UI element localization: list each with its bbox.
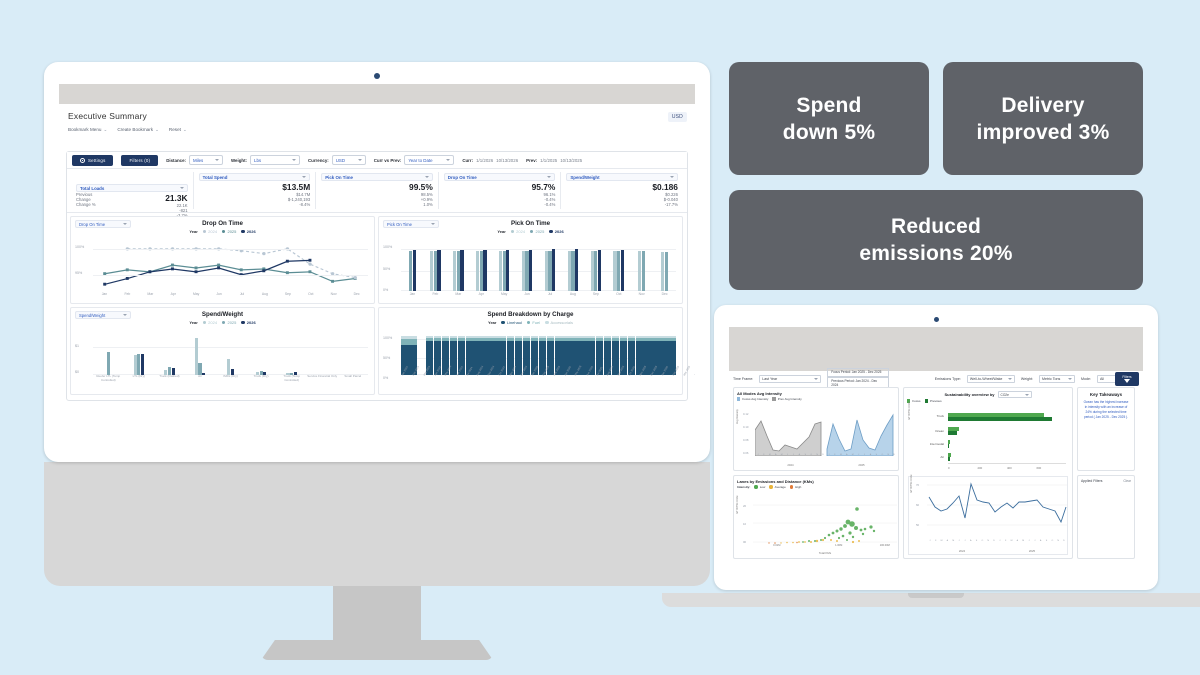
browser-chrome-strip <box>59 84 695 104</box>
chevron-down-icon <box>292 159 296 161</box>
bar-group <box>124 336 155 375</box>
key-takeaways-title: Key Takeaways <box>1082 392 1130 397</box>
x-tick: Jul <box>539 292 562 300</box>
x-axis: Jan Feb Mar Apr May Jun Jul Aug Sep <box>401 292 676 300</box>
legend-swatch <box>530 230 533 233</box>
chart-pick-on-time-selector[interactable]: Pick On Time <box>383 220 439 228</box>
kpi-drop-on-time-change-pct: -0.4% <box>444 202 556 207</box>
legend-swatch <box>790 485 793 488</box>
kpi-drop-on-time-current: 95.7% <box>444 183 556 192</box>
middle-column: Sustainability overview by CO2e Focus Pr… <box>903 387 1073 559</box>
kpi-drop-on-time-title[interactable]: Drop On Time <box>444 173 556 181</box>
x-group-label: 2024 <box>755 463 826 467</box>
time-frame-label: Time Frame: <box>733 377 753 381</box>
filter-bar: Settings Filters (0) Distance: Miles <box>67 152 687 169</box>
legend-item-2025[interactable]: 2025 <box>530 229 544 234</box>
callout-delivery-line1: Delivery <box>977 92 1110 119</box>
kpi-total-loads-overlay: Total Loads 21.3K 22.1K -821 -3.7% <box>76 183 188 219</box>
bar-group <box>276 336 307 375</box>
kpi-pick-on-time-change-pct: 1.0% <box>321 202 433 207</box>
time-frame-value: Last Year <box>762 377 777 381</box>
y-tick: 0.10 <box>743 425 748 429</box>
x-tick: 1.00M <box>835 544 842 547</box>
chevron-down-icon <box>1068 378 1072 380</box>
bar-group <box>516 245 539 291</box>
kpi-total-loads-values: 21.3K 22.1K -821 -3.7% <box>76 194 188 219</box>
laptop-screen: Time Frame: Last Year Focus Period: Jan … <box>729 327 1143 577</box>
chart-spend-weight-legend: Year 2024 2025 2026 <box>74 320 371 325</box>
chart-drop-on-time-selector[interactable]: Drop On Time <box>75 220 131 228</box>
chart-sustainability-overview: Sustainability overview by CO2e Focus Pr… <box>903 387 1073 559</box>
x-group-label: 2025 <box>997 549 1067 553</box>
scatter-points <box>753 500 897 546</box>
trend-line <box>927 481 1067 529</box>
create-bookmark-button[interactable]: Create Bookmark⌄ <box>117 127 159 133</box>
legend-item-low[interactable]: Low <box>754 485 765 489</box>
bar-group <box>630 245 653 291</box>
legend-swatch <box>222 321 225 324</box>
settings-label: Settings <box>88 158 105 163</box>
x-tick: Dec <box>345 292 368 300</box>
chevron-down-icon: ⌄ <box>155 127 159 132</box>
bar-group <box>401 245 424 291</box>
y-axis-label: mT WTW CO2e <box>908 402 911 420</box>
x-tick: IMDL (Dry) <box>215 375 246 391</box>
x-tick: 100.00M <box>880 544 890 547</box>
filter-currency-select[interactable]: USD <box>332 155 366 165</box>
kpi-pick-on-time-title-text: Pick On Time <box>325 175 353 180</box>
x-tick: Nov <box>322 292 345 300</box>
y-tick: 0.12 <box>743 412 748 416</box>
legend-item-2024[interactable]: 2024 <box>511 229 525 234</box>
x-tick: Air <box>185 375 216 391</box>
previous-range-start[interactable]: 1/1/2025 <box>540 158 557 163</box>
x-axis: JFMAMJJASOND JFMAMJJASOND <box>927 540 1067 547</box>
cat-label: Truck <box>916 414 944 418</box>
bar-group <box>246 336 277 375</box>
filter-weight-select[interactable]: Lbs <box>250 155 300 165</box>
kpi-spend-weight-title-text: Spend/Weight <box>570 175 599 180</box>
applied-filters-card: Applied Filters Clear <box>1077 475 1135 559</box>
legend-label: 2024 <box>516 229 525 234</box>
y-tick: 50 <box>916 523 919 527</box>
x-tick: Oct <box>607 292 630 300</box>
chevron-down-icon <box>1008 378 1012 380</box>
callout-emissions-line1: Reduced <box>859 213 1012 240</box>
filters-button[interactable]: Filters (0) <box>121 155 158 166</box>
x-tick: Apr <box>470 292 493 300</box>
chevron-down-icon <box>425 176 429 178</box>
applied-filters-title: Applied Filters <box>1081 479 1102 555</box>
y-axis-label: mT WTW CO2e <box>910 475 913 493</box>
chevron-down-icon: ⌄ <box>103 127 107 132</box>
key-takeaways-card: Key Takeaways Ocean has the highest incr… <box>1077 387 1135 471</box>
sustainability-dashboard: Time Frame: Last Year Focus Period: Jan … <box>729 371 1143 577</box>
bar-group <box>215 336 246 375</box>
x-tick: 200 <box>978 466 1008 474</box>
chevron-down-icon <box>670 176 674 178</box>
plot-area: Avg Intensity 0.12 0.10 0.08 0.06 <box>737 412 895 467</box>
focus-period: Focus Period: Jan 2025 - Dec 2025 <box>827 368 889 376</box>
drop-on-time-lines <box>93 245 368 291</box>
legend-label: 2024 <box>208 320 217 325</box>
legend-item-high[interactable]: High <box>790 485 802 489</box>
bar-group <box>493 245 516 291</box>
plot-area-horizontal: mT WTW CO2e Truck Ocean Intermodal Air <box>908 412 1068 474</box>
y-tick: 20 <box>743 504 746 508</box>
chart-spend-weight-plot: $1 $0 <box>75 334 370 391</box>
x-tick: Oct <box>299 292 322 300</box>
cat-label: Air <box>916 455 944 459</box>
filter-curr-vs-prev: Curr vs Prev: Year to Date <box>374 155 455 165</box>
hbars <box>948 412 1066 464</box>
legend-item-2026[interactable]: 2026 <box>549 229 563 234</box>
legend-label: High <box>795 485 801 489</box>
x-tick: Truck (Temp Controlled) <box>276 375 307 391</box>
bar-group <box>185 336 216 375</box>
y-axis-label: Avg Intensity <box>736 409 739 424</box>
legend-title: Year <box>189 229 197 234</box>
laptop-bezel: Time Frame: Last Year Focus Period: Jan … <box>714 305 1158 590</box>
x-axis: JFMAMJJASOND JFMAMJJASOND <box>755 454 897 461</box>
kpi-drop-on-time-values: 95.7% 96.1% -0.4% -0.4% <box>444 183 556 208</box>
chart-grid: Drop On Time Drop On Time Year 2024 2025… <box>67 213 687 398</box>
applied-filters-clear-button[interactable]: Clear <box>1123 479 1131 555</box>
legend-label: 2026 <box>247 229 256 234</box>
legend-item-previous[interactable]: Previous <box>925 399 942 403</box>
current-range-end[interactable]: 10/13/2026 <box>496 158 518 163</box>
executive-summary-dashboard: Executive Summary USD Bookmark Menu⌄ Cre… <box>59 104 695 448</box>
weight-select[interactable]: Metric Tons <box>1039 375 1075 383</box>
filter-currency: Currency: USD <box>308 155 366 165</box>
y-tick: 70 <box>916 483 919 487</box>
x-axis-groups: 2024 2025 <box>755 463 897 467</box>
chart-all-modes-legend: Focus Avg Intensity Prev Avg Intensity <box>737 397 895 401</box>
weight-label: Weight: <box>1021 377 1033 381</box>
legend-label: Prev Avg Intensity <box>778 397 802 401</box>
chart-drop-on-time-legend: Year 2024 2025 2026 <box>74 229 371 234</box>
legend-item-2025[interactable]: 2025 <box>222 320 236 325</box>
x-tick: May <box>185 292 208 300</box>
chart-emissions-trend: mT WTW CO2e 70 60 50 <box>908 476 1068 555</box>
legend-swatch <box>754 485 757 488</box>
filter-distance-select[interactable]: Miles <box>189 155 223 165</box>
webcam-icon <box>374 73 380 79</box>
bookmark-menu-button[interactable]: Bookmark Menu⌄ <box>68 127 107 133</box>
kpi-pick-on-time-values: 99.5% 98.5% +0.9% 1.0% <box>321 183 433 208</box>
legend-swatch <box>241 230 244 233</box>
filter-weight: Weight: Lbs <box>231 155 300 165</box>
y-tick: 95% <box>75 271 82 275</box>
x-tick: 400 <box>1007 466 1037 474</box>
previous-range-end[interactable]: 10/13/2025 <box>560 158 582 163</box>
filter-curr-vs-prev-select[interactable]: Year to Date <box>404 155 454 165</box>
x-tick: Jan <box>401 292 424 300</box>
chart-pick-on-time: Pick On Time Pick On Time Year 2024 2025… <box>378 216 683 304</box>
legend-label: 2024 <box>208 229 217 234</box>
x-tick: Dec <box>653 292 676 300</box>
kpi-pick-on-time-title[interactable]: Pick On Time <box>321 173 433 181</box>
y-tick: 50% <box>383 356 390 360</box>
chevron-down-icon <box>358 159 362 161</box>
legend-title: Year <box>497 229 505 234</box>
legend-label: 2025 <box>535 229 544 234</box>
x-tick: Sep <box>584 292 607 300</box>
chevron-down-icon <box>123 314 127 316</box>
legend-swatch <box>203 230 206 233</box>
kpi-card-pick-on-time: Pick On Time 99.5% 98.5% +0.9% 1.0% <box>315 172 438 209</box>
kpi-strip: Current Previous Change Change % Total L… <box>67 169 687 213</box>
y-tick: $1 <box>75 344 79 348</box>
create-bookmark-label: Create Bookmark <box>117 127 153 132</box>
chevron-down-icon <box>215 159 219 161</box>
bookmark-toolbar: Bookmark Menu⌄ Create Bookmark⌄ Reset⌄ <box>61 121 693 133</box>
sustainability-card-row: All Modes Avg Intensity Focus Avg Intens… <box>729 387 1143 559</box>
kpi-drop-on-time-title-text: Drop On Time <box>448 175 477 180</box>
legend-item-focus[interactable]: Focus Avg Intensity <box>737 397 768 401</box>
callout-spend: Spend down 5% <box>729 62 929 175</box>
legend-item-2024[interactable]: 2024 <box>203 320 217 325</box>
chart-sustainability-legend: Focus Previous <box>907 399 1069 403</box>
legend-item-2026[interactable]: 2026 <box>241 229 255 234</box>
legend-item-prev[interactable]: Prev Avg Intensity <box>772 397 801 401</box>
chart-pick-on-time-selector-value: Pick On Time <box>387 222 412 227</box>
chart-drop-on-time: Drop On Time Drop On Time Year 2024 2025… <box>70 216 375 304</box>
legend-label: 2026 <box>247 320 256 325</box>
y-tick: $0 <box>75 370 79 374</box>
x-tick: 600 <box>1037 466 1067 474</box>
chevron-down-icon <box>302 176 306 178</box>
legend-swatch <box>511 230 514 233</box>
x-tick: Jun <box>516 292 539 300</box>
mode-label: Mode: <box>1081 377 1091 381</box>
x-tick: Aug <box>253 292 276 300</box>
x-tick: LTL (Dry) <box>124 375 155 391</box>
kpi-card-drop-on-time: Drop On Time 95.7% 96.1% -0.4% -0.4% <box>438 172 561 209</box>
chevron-down-icon <box>814 378 818 380</box>
legend-label: Linehaul <box>507 320 522 325</box>
x-tick: 0.01M <box>773 544 780 547</box>
webcam-icon <box>934 317 939 322</box>
emissions-type-label: Emissions Type: <box>935 377 961 381</box>
x-group-label: 2024 <box>927 549 997 553</box>
bar-group <box>561 245 584 291</box>
current-range-label: Curr: <box>462 158 473 163</box>
x-tick: May <box>493 292 516 300</box>
bar-group <box>424 245 447 291</box>
chart-spend-weight-selector[interactable]: Spend/Weight <box>75 311 131 319</box>
legend-swatch <box>222 230 225 233</box>
x-tick: Apr <box>162 292 185 300</box>
y-tick: 100% <box>383 245 392 249</box>
legend-label: Accessorials <box>551 320 573 325</box>
legend-item-2024[interactable]: 2024 <box>203 229 217 234</box>
legend-label: Focus <box>912 399 920 403</box>
x-axis: Reefer LTL (Temp Controlled) LTL (Dry) T… <box>93 375 368 391</box>
laptop-trackpad-notch <box>908 593 964 598</box>
legend-label: Focus Avg Intensity <box>742 397 768 401</box>
kpi-card-spend-weight: Spend/Weight $0.186 $0.226 $-0.040 -17.7… <box>560 172 683 209</box>
x-tick: Jun <box>208 292 231 300</box>
right-column: Key Takeaways Ocean has the highest incr… <box>1077 387 1135 559</box>
legend-label: Fuel <box>532 320 540 325</box>
filter-currency-label: Currency: <box>308 158 329 163</box>
y-tick: 10 <box>743 522 746 526</box>
co2e-metric-select[interactable]: CO2e <box>998 391 1032 398</box>
x-tick: Feb <box>424 292 447 300</box>
kpi-spend-weight-values: $0.186 $0.226 $-0.040 -17.7% <box>566 183 678 208</box>
x-tick: 0 <box>948 466 978 474</box>
bar-groups <box>93 336 368 375</box>
bookmark-menu-label: Bookmark Menu <box>68 127 101 132</box>
chart-lanes-title: Lanes by Emissions and Distance (KMs) <box>737 479 895 484</box>
emissions-type-value: Well-to-Wheel/Wake <box>970 377 1003 381</box>
x-tick: Aug <box>561 292 584 300</box>
filter-curr-vs-prev-value: Year to Date <box>408 158 432 163</box>
monitor-bezel: Executive Summary USD Bookmark Menu⌄ Cre… <box>44 62 710 462</box>
kpi-total-loads-current: 21.3K <box>76 194 188 203</box>
kpi-total-spend-title[interactable]: Total Spend <box>199 173 311 181</box>
emissions-type-select[interactable]: Well-to-Wheel/Wake <box>967 375 1015 383</box>
chart-spend-weight-selector-value: Spend/Weight <box>79 313 105 318</box>
bar-group <box>470 245 493 291</box>
left-column: All Modes Avg Intensity Focus Avg Intens… <box>733 387 899 559</box>
desktop-monitor: Executive Summary USD Bookmark Menu⌄ Cre… <box>44 62 710 522</box>
chart-spend-weight: Spend/Weight Spend/Weight Year 2024 2025… <box>70 307 375 395</box>
weight-value: Metric Tons <box>1042 377 1060 381</box>
kpi-total-spend-current: $13.5M <box>199 183 311 192</box>
kpi-total-spend-change-pct: -8.4% <box>199 202 311 207</box>
filter-distance: Distance: Miles <box>166 155 223 165</box>
monitor-stand-base <box>261 640 493 660</box>
x-axis-label: Total KMs <box>753 551 897 555</box>
legend-swatch <box>737 397 740 400</box>
mode-value: All <box>1100 377 1104 381</box>
legend-item-linehaul[interactable]: Linehaul <box>501 320 522 325</box>
chevron-down-icon <box>446 159 450 161</box>
callout-delivery-line2: improved 3% <box>977 119 1110 146</box>
dashboard-panel: Settings Filters (0) Distance: Miles <box>66 151 688 401</box>
legend-label: 2025 <box>227 229 236 234</box>
callout-emissions-text: Reduced emissions 20% <box>859 213 1012 267</box>
chart-lanes-by-emissions: Lanes by Emissions and Distance (KMs) In… <box>733 475 899 559</box>
filter-currency-value: USD <box>336 158 345 163</box>
x-group-label: 2025 <box>826 463 897 467</box>
kpi-total-spend-title-text: Total Spend <box>203 175 228 180</box>
legend-label: Average <box>775 485 786 489</box>
bar-group <box>154 336 185 375</box>
legend-item-fuel[interactable]: Fuel <box>527 320 540 325</box>
settings-button[interactable]: Settings <box>72 155 113 166</box>
cat-label: Intermodal <box>916 442 944 446</box>
callout-delivery-text: Delivery improved 3% <box>977 92 1110 146</box>
x-tick: Truck (Flatbed) <box>154 375 185 391</box>
chevron-down-icon: ⌄ <box>183 127 187 132</box>
date-range-current: Curr: 1/1/2026 10/13/2026 <box>462 158 518 163</box>
kpi-total-loads-title[interactable]: Total Loads <box>76 184 188 192</box>
filter-weight-label: Weight: <box>231 158 247 163</box>
kpi-spend-weight-title[interactable]: Spend/Weight <box>566 173 678 181</box>
plot-area <box>93 245 368 291</box>
x-tick: Mar <box>139 292 162 300</box>
chevron-down-icon <box>1025 394 1029 396</box>
callout-emissions: Reduced emissions 20% <box>729 190 1143 290</box>
legend-label: Low <box>760 485 766 489</box>
monitor-stand-neck <box>333 586 421 648</box>
x-axis: 0.01M 1.00M 100.00M <box>753 544 897 550</box>
chart-lanes-legend: Intensity: Low Average High <box>737 485 895 489</box>
legend-title: Intensity: <box>737 485 750 489</box>
chart-sustainability-header: Sustainability overview by CO2e <box>907 391 1069 398</box>
x-axis: 0 200 400 600 <box>948 466 1066 474</box>
legend-swatch <box>501 321 504 324</box>
sustainability-filter-bar: Time Frame: Last Year Focus Period: Jan … <box>729 371 1143 387</box>
monitor-chin <box>44 462 710 586</box>
x-tick: Jul <box>231 292 254 300</box>
filters-button[interactable]: Filters <box>1115 372 1139 386</box>
chart-spend-breakdown-legend: Year Linehaul Fuel Accessorials <box>382 320 679 325</box>
bar-group <box>93 336 124 375</box>
reset-button[interactable]: Reset⌄ <box>169 127 187 133</box>
plot-area <box>401 245 676 291</box>
previous-range-label: Prev: <box>526 158 537 163</box>
page-title: Executive Summary <box>61 104 693 121</box>
kpi-spend-weight-change-pct: -17.7% <box>566 202 678 207</box>
legend-item-2026[interactable]: 2026 <box>241 320 255 325</box>
bar-group <box>307 336 338 375</box>
currency-badge[interactable]: USD <box>668 112 687 122</box>
legend-item-accessorials[interactable]: Accessorials <box>545 320 573 325</box>
key-takeaways-body: Ocean has the highest increase in intens… <box>1082 400 1130 420</box>
legend-swatch <box>545 321 548 324</box>
chart-spend-breakdown-plot: 100% 50% 0% Jan 2024Feb <box>383 334 678 391</box>
chart-all-modes-title: All Modes Avg Intensity <box>737 391 895 396</box>
x-tick: Truck (Dry) <box>246 375 277 391</box>
bar-group <box>607 245 630 291</box>
scene: Executive Summary USD Bookmark Menu⌄ Cre… <box>0 0 1200 675</box>
co2e-metric-value: CO2e <box>1001 393 1009 397</box>
funnel-icon <box>1124 379 1130 383</box>
kpi-total-loads-title-text: Total Loads <box>80 186 104 191</box>
callout-spend-line2: down 5% <box>783 119 875 146</box>
x-tick: Jan <box>93 292 116 300</box>
y-axis-label: mT WTW CO2e <box>736 496 739 514</box>
legend-swatch <box>241 321 244 324</box>
x-tick: Service Financial Only <box>307 375 338 391</box>
bar-group <box>653 245 676 291</box>
filters-label: Filters (0) <box>129 158 150 163</box>
chevron-down-icon <box>547 176 551 178</box>
legend-item-2025[interactable]: 2025 <box>222 229 236 234</box>
bar-groups <box>401 245 676 291</box>
current-range-start[interactable]: 1/1/2026 <box>476 158 493 163</box>
legend-item-average[interactable]: Average <box>769 485 786 489</box>
bar-group <box>584 245 607 291</box>
time-frame-select[interactable]: Last Year <box>759 375 821 383</box>
chart-drop-on-time-selector-value: Drop On Time <box>79 222 105 227</box>
gear-icon <box>80 158 85 163</box>
chart-pick-on-time-legend: Year 2024 2025 2026 <box>382 229 679 234</box>
callout-spend-text: Spend down 5% <box>783 92 875 146</box>
y-tick: 0.08 <box>743 438 748 442</box>
legend-swatch <box>549 230 552 233</box>
legend-swatch <box>925 399 928 402</box>
x-axis: Jan Feb Mar Apr May Jun Jul Aug Sep <box>93 292 368 300</box>
bar-group <box>539 245 562 291</box>
filter-weight-value: Lbs <box>254 158 261 163</box>
filter-distance-value: Miles <box>193 158 203 163</box>
plot-area: mT WTW CO2e 20 10 00 <box>737 500 895 555</box>
